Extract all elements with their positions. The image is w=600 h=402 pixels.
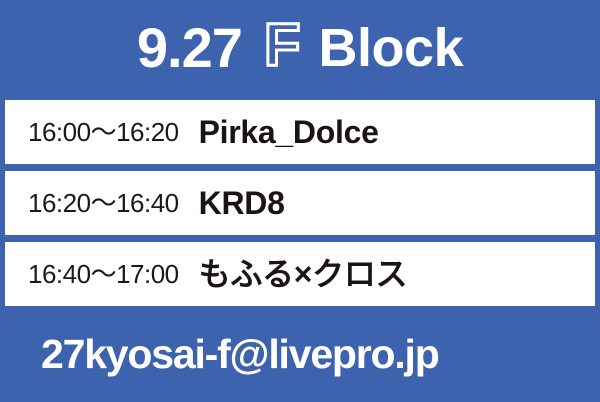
schedule-row-artist: もふる×クロス bbox=[199, 258, 408, 290]
schedule-poster: 9.27 F Block 16:00〜16:20 Pirka_Dolce 16:… bbox=[0, 0, 600, 402]
poster-footer: 27kyosai-f@livepro.jp bbox=[0, 306, 600, 402]
schedule-row-time: 16:40〜17:00 bbox=[28, 261, 179, 287]
block-letter-badge: F bbox=[264, 15, 301, 75]
schedule-row-time: 16:00〜16:20 bbox=[28, 119, 179, 145]
contact-email: 27kyosai-f@livepro.jp bbox=[41, 334, 439, 375]
schedule-row-time: 16:20〜16:40 bbox=[28, 190, 179, 216]
poster-header: 9.27 F Block bbox=[0, 0, 600, 100]
schedule-row: 16:20〜16:40 KRD8 bbox=[5, 171, 595, 235]
header-title-group: 9.27 F Block bbox=[137, 18, 463, 78]
schedule-row-artist: KRD8 bbox=[199, 187, 285, 219]
schedule-row: 16:40〜17:00 もふる×クロス bbox=[5, 242, 595, 306]
schedule-row: 16:00〜16:20 Pirka_Dolce bbox=[5, 100, 595, 164]
event-date: 9.27 bbox=[137, 20, 242, 76]
schedule-row-artist: Pirka_Dolce bbox=[199, 116, 379, 148]
schedule-list: 16:00〜16:20 Pirka_Dolce 16:20〜16:40 KRD8… bbox=[0, 100, 600, 306]
block-label: Block bbox=[319, 21, 464, 75]
